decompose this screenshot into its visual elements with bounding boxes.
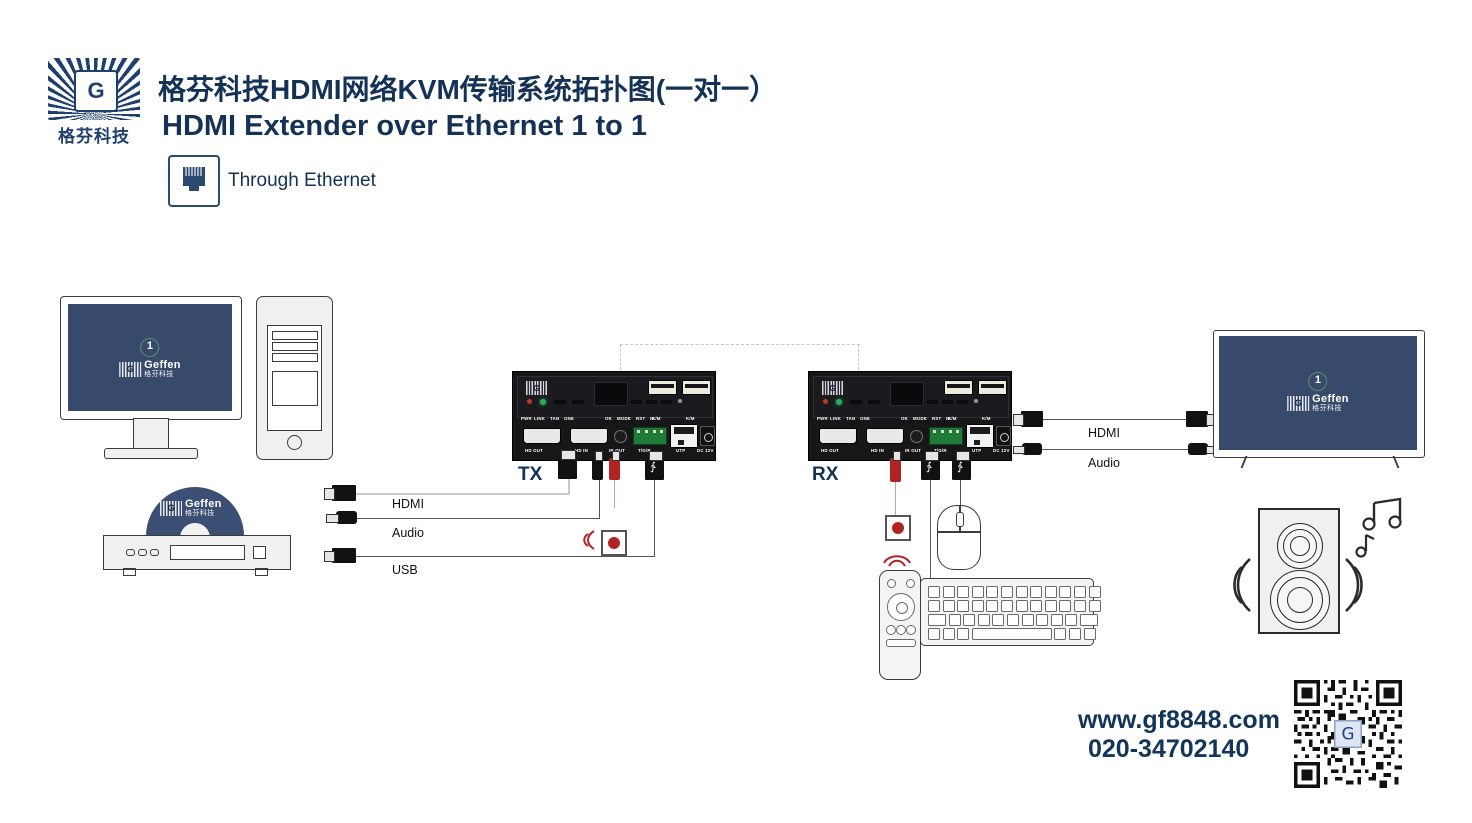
ir-emitter xyxy=(601,530,627,556)
dvd-eject-button[interactable] xyxy=(253,546,266,559)
logo-company-name: 格芬科技 xyxy=(48,122,140,147)
tx-label-mode: MODE xyxy=(617,416,631,421)
audio-plug-tip xyxy=(326,514,339,523)
key[interactable] xyxy=(957,600,969,612)
tx-device: G PWR LINK TAN ONE OK MODE RST IR K/M K/… xyxy=(512,371,716,461)
rx-port-tgr[interactable] xyxy=(929,427,963,445)
key[interactable] xyxy=(963,614,975,626)
key[interactable] xyxy=(978,614,990,626)
audio-out-plug-left xyxy=(1022,443,1042,455)
dvd-tray xyxy=(170,545,245,560)
keyboard-row xyxy=(928,628,1096,640)
rx-port-hd-in[interactable] xyxy=(866,428,904,444)
tx-device-label: TX xyxy=(518,464,542,486)
rx-label-hd-in: HD IN xyxy=(871,448,884,453)
hdmi-out-plug-left-tip xyxy=(1013,414,1024,426)
hdmi-out-plug-right xyxy=(1186,411,1208,427)
ir-rx-lead xyxy=(895,482,896,516)
keyboard[interactable] xyxy=(920,578,1094,646)
brand-name-en: Geffen xyxy=(144,360,181,371)
mouse-scroll-wheel[interactable] xyxy=(956,512,964,527)
key[interactable] xyxy=(943,600,955,612)
ir-emitter-waves-icon xyxy=(574,527,598,558)
tx-label-hd-in: HD IN xyxy=(575,448,588,453)
tx-label-pwr: PWR xyxy=(521,416,532,421)
remote-button[interactable] xyxy=(906,579,915,588)
remote-button[interactable] xyxy=(886,625,896,635)
tv-brand: 1 G Geffen 格芬科技 xyxy=(1287,372,1349,412)
qr-code: G xyxy=(1294,680,1402,788)
ethernet-link-drop-tx xyxy=(620,344,621,370)
brand-mark: G xyxy=(119,362,141,377)
tx-btn-ok[interactable] xyxy=(631,400,642,404)
hdmi-plug-tx-tip xyxy=(561,450,576,460)
tx-display-window xyxy=(594,382,628,406)
tx-led-ir xyxy=(678,399,682,403)
key[interactable] xyxy=(1051,614,1063,626)
rx-label-rst: RST xyxy=(932,416,941,421)
usb-cable-run xyxy=(355,556,655,557)
key-win[interactable] xyxy=(943,628,955,640)
dvd-foot xyxy=(255,568,268,576)
keyboard-row xyxy=(928,614,1098,626)
key[interactable] xyxy=(1016,600,1028,612)
rx-btn-tan[interactable] xyxy=(850,400,862,404)
ir-remote-control[interactable] xyxy=(879,570,921,680)
page-title-cn: 格芬科技HDMI网络KVM传输系统拓扑图(一对一） xyxy=(158,68,777,108)
ethernet-link xyxy=(620,344,860,345)
monitor-screen: 1 G Geffen 格芬科技 xyxy=(68,304,232,411)
rx-btn-ok[interactable] xyxy=(927,400,938,404)
key[interactable] xyxy=(1022,614,1034,626)
tx-label-dc-12v: DC 12V xyxy=(697,448,714,453)
usb-cable-label: USB xyxy=(392,563,418,577)
key[interactable] xyxy=(1030,586,1042,598)
key-alt[interactable] xyxy=(957,628,969,640)
remote-slider[interactable] xyxy=(886,639,916,647)
key-fn[interactable] xyxy=(1069,628,1081,640)
key-ctrl-right[interactable] xyxy=(1084,628,1096,640)
rx-label-utp: UTP xyxy=(972,448,981,453)
tx-port-hd-out[interactable] xyxy=(523,428,561,444)
monitor-stand-neck xyxy=(133,418,169,450)
website-link[interactable]: www.gf8848.com xyxy=(1078,706,1280,735)
audio-red-lead xyxy=(614,480,615,508)
key[interactable] xyxy=(1089,600,1101,612)
rx-label-one: ONE xyxy=(860,416,870,421)
usb-symbol-icon: ∱ xyxy=(650,462,656,473)
key[interactable] xyxy=(928,586,940,598)
tx-label-km-2: K/M xyxy=(686,416,695,421)
rx-brand-mark: G xyxy=(822,381,843,395)
rx-label-hd-out: HD OUT xyxy=(821,448,839,453)
monitor-badge-1: 1 xyxy=(140,338,159,357)
tx-usb-port-km-1[interactable] xyxy=(648,380,677,395)
keyboard-row xyxy=(928,586,1101,598)
tx-led-power xyxy=(527,399,532,404)
ethernet-label: Through Ethernet xyxy=(228,170,376,192)
tx-label-hd-out: HD OUT xyxy=(525,448,543,453)
dvd-indicator xyxy=(126,549,135,556)
company-logo: G 格芬科技 xyxy=(48,58,140,148)
page-title-en: HDMI Extender over Ethernet 1 to 1 xyxy=(162,110,647,143)
audio-out-cable-run xyxy=(1040,449,1190,450)
usb-plug-tip xyxy=(324,551,335,562)
rx-usb-port-km-2[interactable] xyxy=(978,380,1007,395)
hdmi-plug-tip xyxy=(324,488,335,500)
rx-label-km-1: K/M xyxy=(948,416,957,421)
speaker-woofer xyxy=(1270,570,1330,630)
rx-device-label: RX xyxy=(812,464,838,486)
rx-label-link: LINK xyxy=(830,416,841,421)
audio-out-plug-left-tip xyxy=(1013,446,1025,454)
dvd-player xyxy=(103,535,291,570)
rx-label-mode: MODE xyxy=(913,416,927,421)
usb-plug-rx-2-tip xyxy=(956,451,970,461)
svg-text:G: G xyxy=(1342,724,1355,744)
key[interactable] xyxy=(949,614,961,626)
key[interactable] xyxy=(1074,586,1086,598)
key[interactable] xyxy=(943,586,955,598)
usb-rx-1-lead xyxy=(930,480,931,580)
brand-name-en: Geffen xyxy=(1312,394,1349,405)
hdmi-out-plug-left xyxy=(1021,411,1043,427)
key-caps[interactable] xyxy=(928,614,946,626)
rx-label-km-2: K/M xyxy=(982,416,991,421)
speaker-tweeter xyxy=(1277,523,1323,569)
key[interactable] xyxy=(1016,586,1028,598)
tx-label-link: LINK xyxy=(534,416,545,421)
speaker xyxy=(1258,508,1340,634)
key[interactable] xyxy=(1001,586,1013,598)
remote-button[interactable] xyxy=(906,625,916,635)
audio-plug-tx-red-tip xyxy=(612,451,620,461)
tx-label-km-1: K/M xyxy=(652,416,661,421)
tx-port-hd-in[interactable] xyxy=(570,428,608,444)
ir-plug-rx xyxy=(890,458,901,482)
remote-dpad[interactable] xyxy=(887,593,915,621)
ir-plug-rx-tip xyxy=(893,451,901,461)
remote-button[interactable] xyxy=(887,579,896,588)
brand-name-cn: 格芬科技 xyxy=(185,510,222,517)
rx-port-hd-out[interactable] xyxy=(819,428,857,444)
phone-number: 020-34702140 xyxy=(1088,735,1249,764)
key[interactable] xyxy=(1036,614,1048,626)
tv-leg-left xyxy=(1241,456,1262,468)
hdmi-cable-label: HDMI xyxy=(392,497,424,511)
tx-btn-one[interactable] xyxy=(572,400,584,404)
rx-btn-rst[interactable] xyxy=(957,400,968,404)
tx-label-one: ONE xyxy=(564,416,574,421)
tx-btn-mode[interactable] xyxy=(646,400,657,404)
hdmi-out-cable-run xyxy=(1040,419,1190,420)
rj45-icon xyxy=(168,155,220,207)
key[interactable] xyxy=(1059,586,1071,598)
tx-label-tan: TAN xyxy=(550,416,559,421)
tx-label-utp: UTP xyxy=(676,448,685,453)
usb-plug-tx-tip xyxy=(649,451,663,461)
rx-led-link xyxy=(836,399,842,405)
ir-receiver xyxy=(885,515,911,541)
hdmi-out-cable-label: HDMI xyxy=(1088,426,1120,440)
key[interactable] xyxy=(992,614,1004,626)
hdmi-cable-run xyxy=(355,493,570,495)
tv-badge-1: 1 xyxy=(1308,372,1327,391)
key-enter[interactable] xyxy=(1080,614,1098,626)
key[interactable] xyxy=(1045,600,1057,612)
audio-out-cable-label: Audio xyxy=(1088,456,1120,470)
keyboard-row xyxy=(928,600,1101,612)
audio-plug-tx-red xyxy=(609,458,620,480)
rx-label-ir-out: IR OUT xyxy=(905,448,921,453)
usb-rx-2-lead xyxy=(960,480,961,506)
tx-btn-rst[interactable] xyxy=(661,400,672,404)
brand-name-cn: 格芬科技 xyxy=(144,371,181,378)
audio-cable-run xyxy=(355,518,600,519)
rx-btn-one[interactable] xyxy=(868,400,880,404)
key[interactable] xyxy=(1065,614,1077,626)
brand-name-en: Geffen xyxy=(185,499,222,510)
rx-label-tan: TAN xyxy=(846,416,855,421)
pc-tower xyxy=(256,296,333,460)
key[interactable] xyxy=(1030,600,1042,612)
rx-btn-mode[interactable] xyxy=(942,400,953,404)
logo-glyph: G xyxy=(74,70,118,112)
tx-led-link xyxy=(540,399,546,405)
key[interactable] xyxy=(1089,586,1101,598)
key-alt-right[interactable] xyxy=(1054,628,1066,640)
key-space[interactable] xyxy=(972,628,1052,640)
audio-plug-source xyxy=(336,511,357,524)
rx-label-dc-12v: DC 12V xyxy=(993,448,1010,453)
music-notes-icon xyxy=(1352,495,1408,566)
sound-waves-left-icon xyxy=(1222,555,1256,620)
tv-screen: 1 G Geffen 格芬科技 xyxy=(1219,336,1417,450)
key[interactable] xyxy=(1001,600,1013,612)
rx-label-pwr: PWR xyxy=(817,416,828,421)
dvd-foot xyxy=(123,568,136,576)
key[interactable] xyxy=(986,600,998,612)
brand-mark: G xyxy=(160,501,182,516)
key[interactable] xyxy=(1074,600,1086,612)
tx-port-utp[interactable] xyxy=(670,424,698,448)
dvd-indicator xyxy=(150,549,159,556)
audio-plug-tx-black xyxy=(592,458,603,480)
key[interactable] xyxy=(1059,600,1071,612)
mouse[interactable] xyxy=(937,505,981,570)
dvd-indicator xyxy=(138,549,147,556)
pc-front-panel xyxy=(267,325,322,431)
key[interactable] xyxy=(972,600,984,612)
tx-label-ok: OK xyxy=(605,416,612,421)
audio-plug-tx-black-tip xyxy=(595,451,603,461)
tx-usb-port-km-2[interactable] xyxy=(682,380,711,395)
audio-cable-label: Audio xyxy=(392,526,424,540)
tx-label-rst: RST xyxy=(636,416,645,421)
rx-label-ok: OK xyxy=(901,416,908,421)
usb-cable-riser xyxy=(654,479,655,557)
monitor-brand: 1 G Geffen 格芬科技 xyxy=(119,338,181,378)
tv: 1 G Geffen 格芬科技 xyxy=(1213,330,1425,458)
usb-symbol-icon: ∱ xyxy=(957,462,963,473)
rx-display-window xyxy=(890,382,924,406)
monitor-stand-base xyxy=(104,448,198,459)
tx-port-ir-out[interactable] xyxy=(614,430,627,443)
tx-brand-mark: G xyxy=(526,381,547,395)
tx-port-dc-12v[interactable] xyxy=(700,426,715,446)
tx-btn-tan[interactable] xyxy=(554,400,566,404)
rx-port-ir-out[interactable] xyxy=(910,430,923,443)
rx-usb-port-km-1[interactable] xyxy=(944,380,973,395)
usb-symbol-icon: ∱ xyxy=(926,462,932,473)
pc-power-button[interactable] xyxy=(287,435,302,450)
ethernet-link-drop-rx xyxy=(858,344,859,370)
hdmi-plug-tx xyxy=(558,457,577,479)
brand-mark: G xyxy=(1287,396,1309,411)
usb-plug-source xyxy=(332,548,356,563)
key[interactable] xyxy=(1045,586,1057,598)
key[interactable] xyxy=(957,586,969,598)
audio-out-plug-right xyxy=(1188,443,1208,455)
tx-port-tgr[interactable] xyxy=(633,427,667,445)
rx-led-power xyxy=(823,399,828,404)
key[interactable] xyxy=(986,586,998,598)
audio-cable-riser xyxy=(599,478,600,519)
key[interactable] xyxy=(1007,614,1019,626)
rx-led-ir xyxy=(974,399,978,403)
rx-port-dc-12v[interactable] xyxy=(996,426,1011,446)
key-ctrl[interactable] xyxy=(928,628,940,640)
hdmi-plug-source xyxy=(332,485,356,501)
disc-brand: G Geffen 格芬科技 xyxy=(160,499,222,517)
remote-button[interactable] xyxy=(896,625,906,635)
key[interactable] xyxy=(972,586,984,598)
rx-port-utp[interactable] xyxy=(966,424,994,448)
monitor: 1 G Geffen 格芬科技 xyxy=(60,296,242,420)
rx-device: G PWR LINK TAN ONE OK MODE RST IR K/M K/… xyxy=(808,371,1012,461)
usb-plug-rx-1-tip xyxy=(925,451,939,461)
key[interactable] xyxy=(928,600,940,612)
brand-name-cn: 格芬科技 xyxy=(1312,405,1349,412)
